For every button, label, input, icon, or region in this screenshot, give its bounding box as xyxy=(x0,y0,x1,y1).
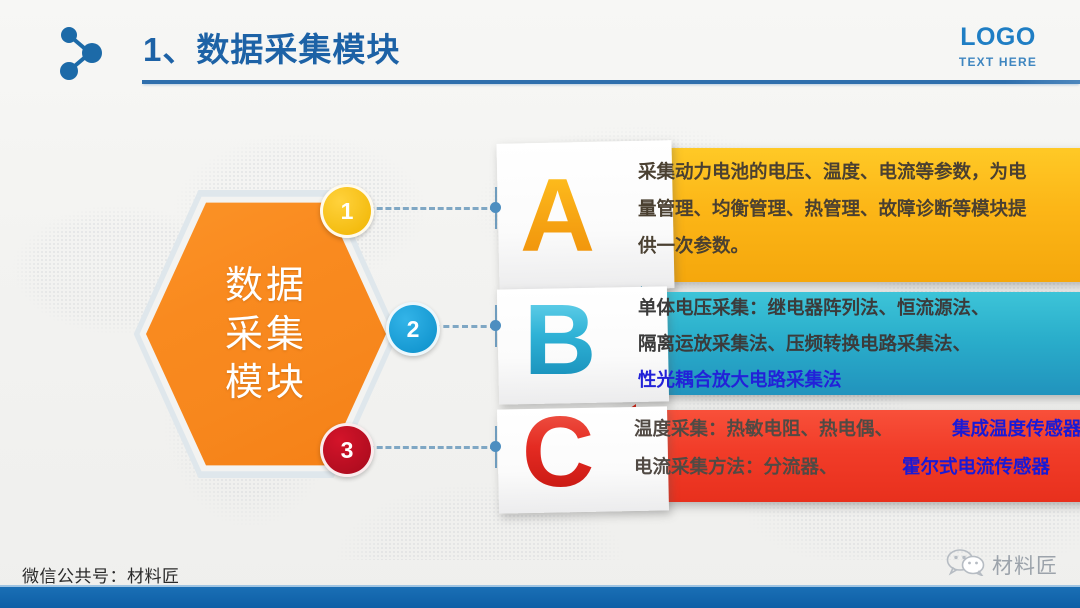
logo-sub-text: TEXT HERE xyxy=(938,55,1058,69)
banner-a-line-3: 供一次参数。 xyxy=(638,228,749,265)
marker-circle-1[interactable]: 1 xyxy=(320,184,374,238)
hexagon-line-3: 模块 xyxy=(225,358,307,407)
banner-letter-c: C xyxy=(522,402,594,502)
marker-circle-3[interactable]: 3 xyxy=(320,423,374,477)
network-share-icon xyxy=(50,22,112,84)
banner-b-line-2: 隔离运放采集法、压频转换电路采集法、 xyxy=(638,326,971,363)
connector-dot-3 xyxy=(490,441,501,452)
logo: LOGO TEXT HERE xyxy=(938,25,1058,69)
banner-b-line-3: 性光耦合放大电路采集法 xyxy=(638,362,842,399)
logo-main-text: LOGO xyxy=(938,25,1058,50)
marker-circle-2[interactable]: 2 xyxy=(386,302,440,356)
header-divider xyxy=(142,80,1080,84)
connector-dot-1 xyxy=(490,202,501,213)
page-title: 1、数据采集模块 xyxy=(143,23,400,71)
connector-dot-2 xyxy=(490,320,501,331)
banner-c-line-2: 电流采集方法：分流器、 xyxy=(634,449,838,486)
connector-line-2 xyxy=(434,325,496,328)
slide-header: 1、数据采集模块 LOGO TEXT HERE xyxy=(0,0,1080,100)
wechat-icon xyxy=(946,548,986,581)
banner-a-line-2: 量管理、均衡管理、热管理、故障诊断等模块提 xyxy=(638,191,1027,228)
footer-wechat-label: 微信公共号：材料匠 xyxy=(22,562,180,587)
banner-c-line-2-highlight: 霍尔式电流传感器 xyxy=(902,449,1050,486)
hexagon-line-1: 数据 xyxy=(225,261,307,310)
banner-row-a[interactable]: A 采集动力电池的电压、温度、电流等参数，为电 量管理、均衡管理、热管理、故障诊… xyxy=(498,142,1080,294)
banner-letter-b: B xyxy=(524,290,596,390)
slide-canvas: 1、数据采集模块 LOGO TEXT HERE 数据 采集 模块 1 2 3 A… xyxy=(0,0,1080,608)
footer-bottom-bar xyxy=(0,587,1080,608)
connector-line-3 xyxy=(368,446,496,449)
banner-letter-a: A xyxy=(520,164,595,268)
banner-row-c[interactable]: C 温度采集：热敏电阻、热电偶、 集成温度传感器 电流采集方法：分流器、 霍尔式… xyxy=(498,408,1080,520)
banner-row-b[interactable]: B 单体电压采集：继电器阵列法、恒流源法、 隔离运放采集法、压频转换电路采集法、… xyxy=(498,288,1080,410)
banner-b-line-1: 单体电压采集：继电器阵列法、恒流源法、 xyxy=(638,290,990,327)
footer-brand-name: 材料匠 xyxy=(992,550,1058,580)
banner-c-line-1-highlight: 集成温度传感器 xyxy=(952,411,1080,448)
hexagon-line-2: 采集 xyxy=(225,310,307,359)
footer-brand: 材料匠 xyxy=(946,548,1058,581)
banner-a-line-1: 采集动力电池的电压、温度、电流等参数，为电 xyxy=(638,154,1027,191)
connector-line-1 xyxy=(368,207,496,210)
banner-c-line-1: 温度采集：热敏电阻、热电偶、 xyxy=(634,411,893,448)
